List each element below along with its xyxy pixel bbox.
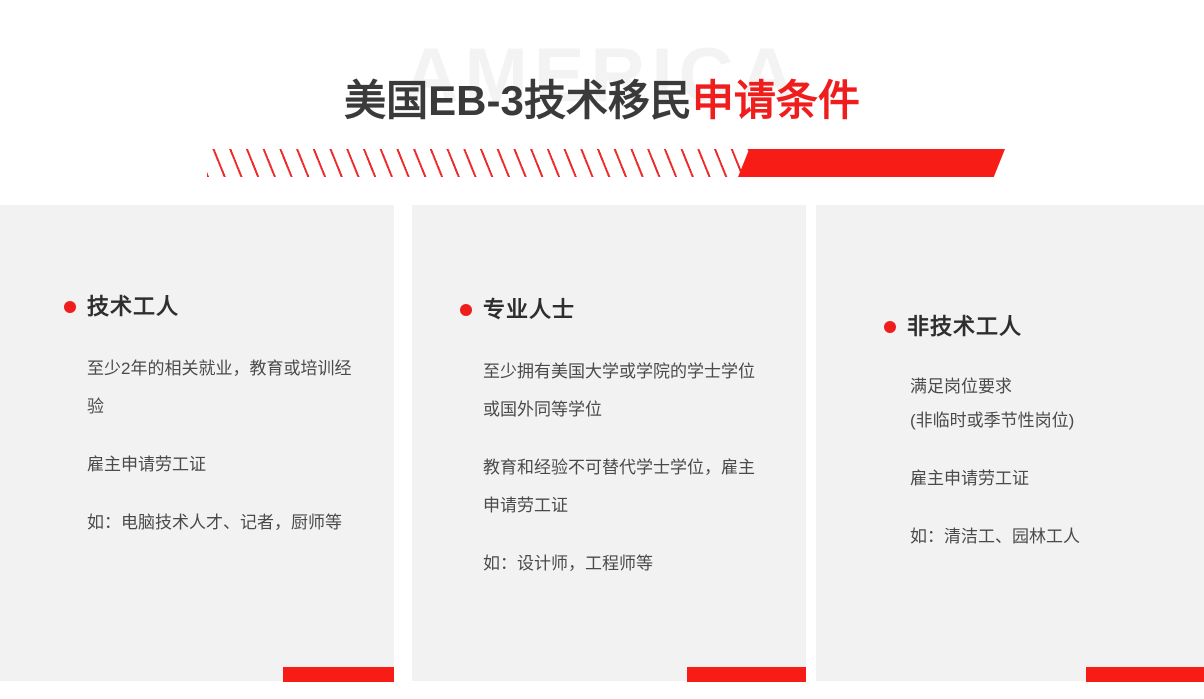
card-title: 技术工人 [87, 294, 179, 320]
card-paragraph: 雇主申请劳工证 [910, 462, 1160, 496]
card-body: 至少2年的相关就业，教育或培训经验 雇主申请劳工证 如：电脑技术人才、记者，厨师… [64, 350, 354, 542]
requirement-card-unskilled-worker: 非技术工人 满足岗位要求 (非临时或季节性岗位) 雇主申请劳工证 如：清洁工、园… [816, 205, 1204, 681]
bullet-dot-icon [460, 304, 472, 316]
card-paragraph: 至少拥有美国大学或学院的学士学位或国外同等学位 [483, 353, 764, 429]
red-parallelogram-decoration [738, 149, 1005, 177]
card-paragraph: 满足岗位要求 (非临时或季节性岗位) [910, 370, 1160, 438]
card-paragraph: 如：电脑技术人才、记者，厨师等 [87, 504, 354, 542]
card-body: 至少拥有美国大学或学院的学士学位或国外同等学位 教育和经验不可替代学士学位，雇主… [460, 353, 764, 583]
card-paragraph: 教育和经验不可替代学士学位，雇主申请劳工证 [483, 449, 764, 525]
requirement-card-skilled-worker: 技术工人 至少2年的相关就业，教育或培训经验 雇主申请劳工证 如：电脑技术人才、… [0, 205, 394, 681]
card-content: 技术工人 至少2年的相关就业，教育或培训经验 雇主申请劳工证 如：电脑技术人才、… [0, 205, 394, 681]
card-heading: 技术工人 [64, 294, 354, 320]
requirement-card-professional: 专业人士 至少拥有美国大学或学院的学士学位或国外同等学位 教育和经验不可替代学士… [412, 205, 806, 681]
card-content: 非技术工人 满足岗位要求 (非临时或季节性岗位) 雇主申请劳工证 如：清洁工、园… [816, 205, 1204, 681]
diagonal-stripes-decoration [207, 149, 752, 177]
card-paragraph: 雇主申请劳工证 [87, 446, 354, 484]
card-accent-bar [283, 667, 394, 682]
card-accent-bar [1086, 667, 1204, 682]
card-body: 满足岗位要求 (非临时或季节性岗位) 雇主申请劳工证 如：清洁工、园林工人 [884, 370, 1160, 554]
card-title: 专业人士 [483, 297, 575, 323]
page-title-red-part: 申请条件 [692, 77, 860, 124]
card-accent-bar [687, 667, 806, 682]
card-heading: 专业人士 [460, 297, 764, 323]
card-heading: 非技术工人 [884, 314, 1160, 340]
card-paragraph: 如：清洁工、园林工人 [910, 520, 1160, 554]
card-title: 非技术工人 [907, 314, 1022, 340]
page-title: 美国EB-3技术移民申请条件 [0, 74, 1204, 128]
page-header: AMERICA 美国EB-3技术移民申请条件 [0, 0, 1204, 200]
card-paragraph: 至少2年的相关就业，教育或培训经验 [87, 350, 354, 426]
card-paragraph: 如：设计师，工程师等 [483, 545, 764, 583]
decorative-band [207, 149, 998, 177]
requirement-cards-container: 技术工人 至少2年的相关就业，教育或培训经验 雇主申请劳工证 如：电脑技术人才、… [0, 205, 1204, 681]
page-title-dark-part: 美国EB-3技术移民 [344, 77, 692, 124]
bullet-dot-icon [64, 301, 76, 313]
bullet-dot-icon [884, 321, 896, 333]
card-content: 专业人士 至少拥有美国大学或学院的学士学位或国外同等学位 教育和经验不可替代学士… [412, 205, 806, 681]
